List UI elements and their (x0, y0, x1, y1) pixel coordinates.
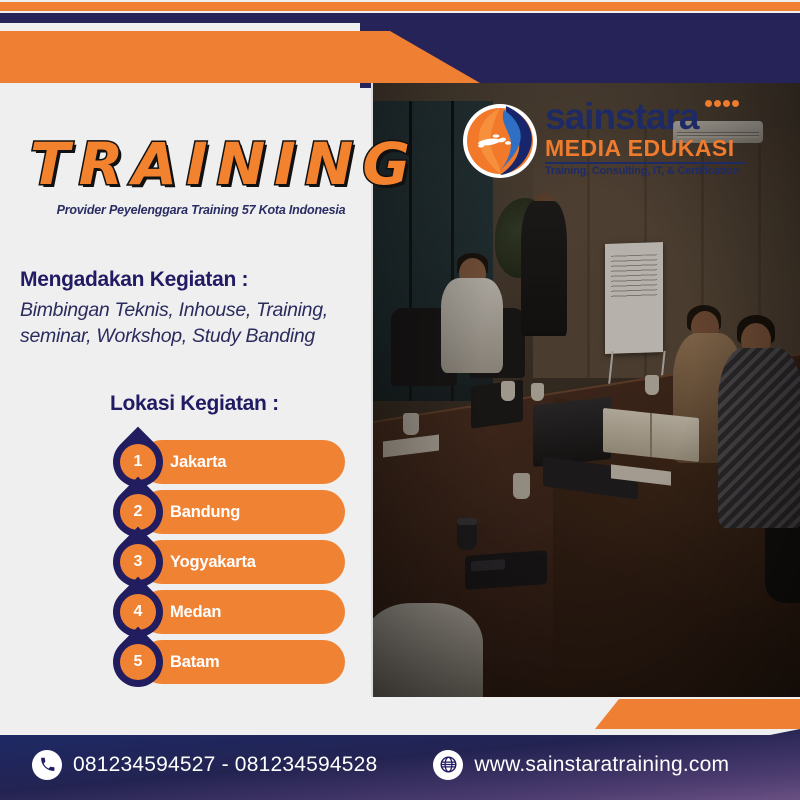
list-item[interactable]: 3 Yogyakarta (113, 537, 348, 587)
location-number: 4 (134, 603, 143, 621)
globe-icon (433, 750, 463, 780)
list-item[interactable]: 5 Batam (113, 637, 348, 687)
activities-body: Bimbingan Teknis, Inhouse, Training, sem… (20, 297, 365, 350)
location-number: 5 (134, 653, 143, 671)
location-number: 3 (134, 553, 143, 571)
website-url: www.sainstaratraining.com (474, 753, 729, 777)
location-number: 1 (134, 453, 143, 471)
poster-canvas: sainstara MEDIA EDUKASI Training, Consul… (0, 0, 800, 800)
sainstara-logo: sainstara MEDIA EDUKASI Training, Consul… (455, 96, 745, 192)
activities-line-1: Bimbingan Teknis, Inhouse, Training, (20, 299, 328, 321)
page-subtitle: Provider Peyelenggara Training 57 Kota I… (36, 203, 366, 217)
logo-wordmark: sainstara MEDIA EDUKASI Training, Consul… (545, 98, 745, 177)
location-label: Bandung (170, 487, 240, 537)
location-label: Jakarta (170, 437, 226, 487)
sainstara-flame-indonesia-emblem-icon (461, 102, 539, 180)
location-number-badge: 5 (103, 627, 174, 698)
activities-line-2: seminar, Workshop, Study Banding (20, 325, 315, 347)
location-label: Medan (170, 587, 221, 637)
locations-heading: Lokasi Kegiatan : (110, 392, 279, 416)
activities-heading: Mengadakan Kegiatan : (20, 268, 248, 292)
locations-list: 1 Jakarta 2 Bandung 3 Yogyakarta 4 Medan (113, 437, 348, 687)
logo-divider (545, 162, 745, 164)
orange-stripe-top (0, 2, 800, 11)
page-title: TRAINING (30, 135, 370, 193)
logo-brand-sub: MEDIA EDUKASI (545, 135, 745, 161)
contact-footer: 081234594527 - 081234594528 www.sainstar… (0, 729, 800, 800)
list-item[interactable]: 1 Jakarta (113, 437, 348, 487)
list-item[interactable]: 2 Bandung (113, 487, 348, 537)
location-number: 2 (134, 503, 143, 521)
logo-dots-icon (705, 100, 739, 107)
orange-band-bottom-angled (595, 699, 800, 729)
phone-contact[interactable]: 081234594527 - 081234594528 (32, 750, 377, 780)
phone-number: 081234594527 - 081234594528 (73, 753, 377, 777)
location-label: Batam (170, 637, 219, 687)
list-item[interactable]: 4 Medan (113, 587, 348, 637)
location-label: Yogyakarta (170, 537, 256, 587)
website-contact[interactable]: www.sainstaratraining.com (433, 750, 729, 780)
phone-icon (32, 750, 62, 780)
logo-tagline: Training, Consulting, IT, & Certificatio… (545, 165, 745, 177)
